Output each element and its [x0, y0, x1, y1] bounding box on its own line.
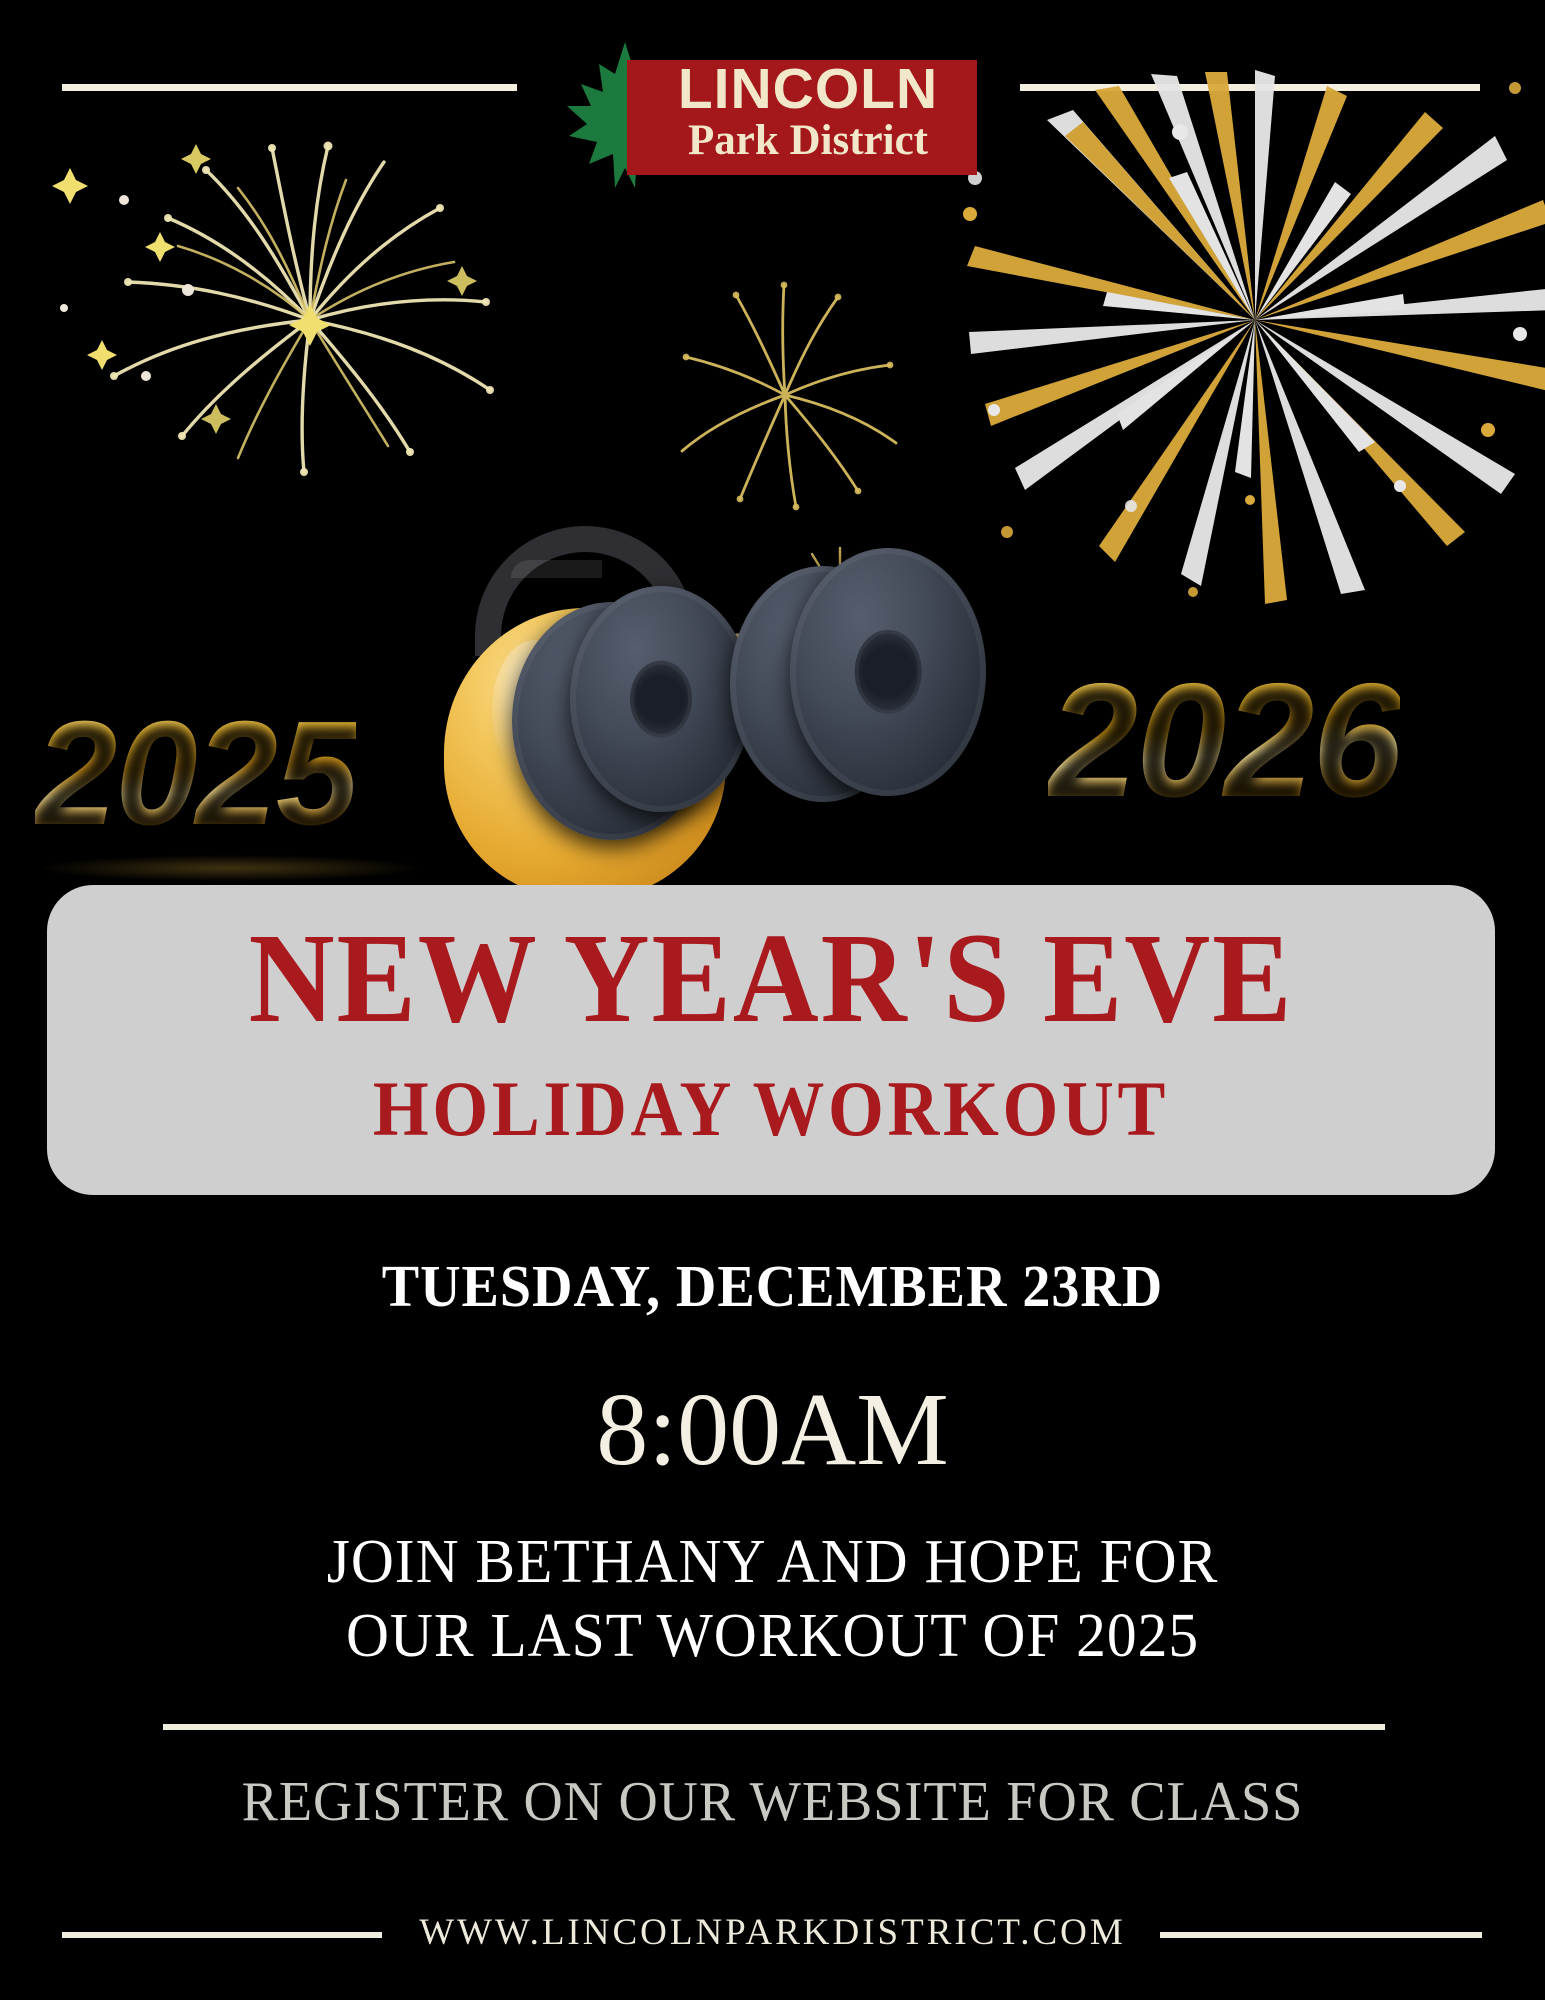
event-description-line2: OUR LAST WORKOUT OF 2025 [31, 1599, 1514, 1673]
event-time: 8:00AM [0, 1375, 1545, 1485]
logo-line1: LINCOLN [643, 60, 973, 118]
subheadline-text: HOLIDAY WORKOUT [105, 1063, 1437, 1155]
lincoln-park-district-logo: LINCOLN Park District [565, 38, 985, 198]
sparkle-dots-right-icon [900, 80, 1540, 510]
website-url[interactable]: WWW.LINCOLNPARKDISTRICT.COM [0, 1903, 1545, 1963]
year-2025-numeral: 2025 [35, 700, 356, 848]
year-2025-reflection [40, 855, 420, 881]
divider-rule [163, 1724, 1385, 1730]
event-description-line1: JOIN BETHANY AND HOPE FOR [31, 1525, 1514, 1599]
headline-banner: NEW YEAR'S EVE HOLIDAY WORKOUT [47, 885, 1495, 1195]
top-right-rule [1020, 84, 1480, 91]
event-date: TUESDAY, DECEMBER 23RD [39, 1255, 1507, 1317]
top-left-rule [62, 84, 517, 91]
sparkle-cluster-left-icon [42, 140, 222, 400]
event-description: JOIN BETHANY AND HOPE FOR OUR LAST WORKO… [31, 1525, 1514, 1673]
register-callout: REGISTER ON OUR WEBSITE FOR CLASS [23, 1770, 1522, 1834]
fitness-equipment-group [430, 520, 1140, 910]
firework-burst-left-icon [10, 70, 570, 490]
firework-burst-center-icon [620, 245, 950, 545]
poster-canvas: LINCOLN Park District 2025 2026 NEW YEAR… [0, 0, 1545, 2000]
logo-line2: Park District [643, 118, 973, 164]
headline-text: NEW YEAR'S EVE [98, 903, 1445, 1053]
